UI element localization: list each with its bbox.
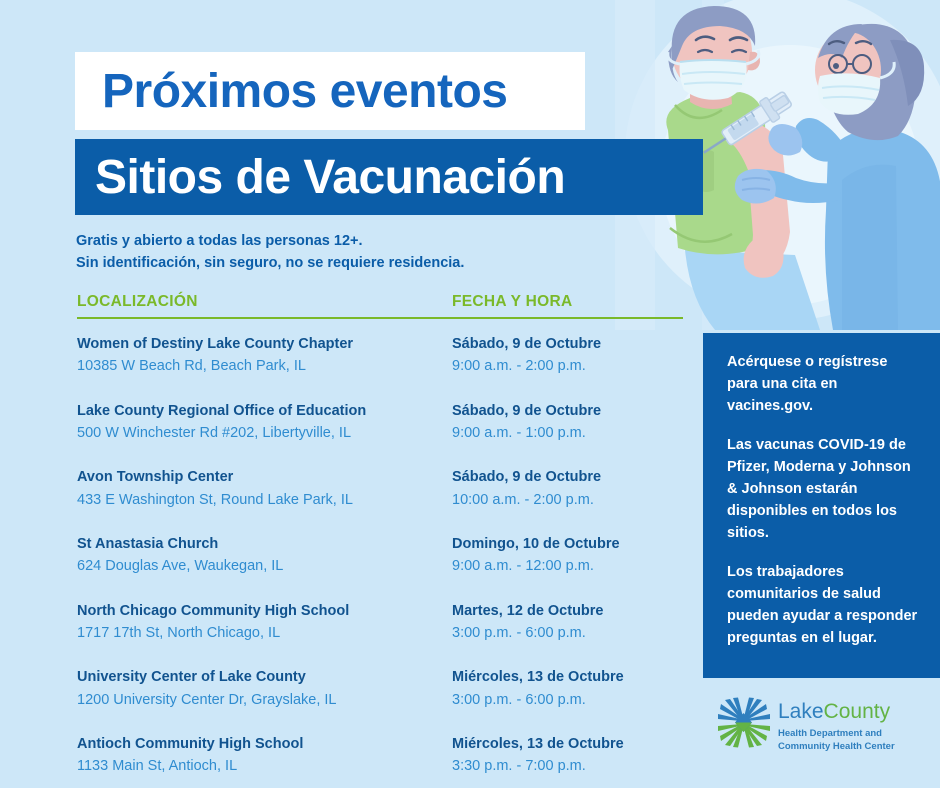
site-date: Domingo, 10 de Octubre — [452, 533, 684, 555]
site-time: 9:00 a.m. - 12:00 p.m. — [452, 555, 684, 578]
header-divider — [77, 317, 683, 319]
headline-secondary-box: Sitios de Vacunación — [75, 139, 703, 215]
cell-location: Women of Destiny Lake County Chapter1038… — [77, 333, 452, 379]
site-time: 9:00 a.m. - 1:00 p.m. — [452, 422, 684, 445]
table-row: Avon Township Center433 E Washington St,… — [77, 466, 684, 512]
site-address: 1133 Main St, Antioch, IL — [77, 755, 452, 778]
site-time: 3:00 p.m. - 6:00 p.m. — [452, 622, 684, 645]
table-row: Women of Destiny Lake County Chapter1038… — [77, 333, 684, 379]
site-time: 3:30 p.m. - 7:00 p.m. — [452, 755, 684, 778]
lake-county-logo: LakeCounty Health Department and Communi… — [718, 697, 933, 759]
headline-primary-box: Próximos eventos — [75, 52, 585, 130]
info-paragraph: Los trabajadores comunitarios de salud p… — [727, 561, 920, 649]
cell-datetime: Miércoles, 13 de Octubre3:30 p.m. - 7:00… — [452, 733, 684, 779]
table-row: St Anastasia Church624 Douglas Ave, Wauk… — [77, 533, 684, 579]
eligibility-subtitle: Gratis y abierto a todas las personas 12… — [76, 230, 676, 275]
site-time: 9:00 a.m. - 2:00 p.m. — [452, 355, 684, 378]
cell-location: Lake County Regional Office of Education… — [77, 400, 452, 446]
poster-canvas: Próximos eventos Sitios de Vacunación Gr… — [0, 0, 940, 788]
site-date: Martes, 12 de Octubre — [452, 600, 684, 622]
site-address: 433 E Washington St, Round Lake Park, IL — [77, 489, 452, 512]
table-row: Antioch Community High School1133 Main S… — [77, 733, 684, 779]
logo-name-county: County — [824, 700, 891, 723]
site-name: Antioch Community High School — [77, 733, 452, 755]
cell-datetime: Sábado, 9 de Octubre9:00 a.m. - 1:00 p.m… — [452, 400, 684, 446]
cell-location: St Anastasia Church624 Douglas Ave, Wauk… — [77, 533, 452, 579]
site-date: Sábado, 9 de Octubre — [452, 400, 684, 422]
site-name: North Chicago Community High School — [77, 600, 452, 622]
info-panel: Acérquese o regístrese para una cita en … — [703, 333, 940, 678]
info-paragraph: Acérquese o regístrese para una cita en … — [727, 351, 920, 417]
site-date: Miércoles, 13 de Octubre — [452, 666, 684, 688]
site-time: 3:00 p.m. - 6:00 p.m. — [452, 689, 684, 712]
cell-location: North Chicago Community High School1717 … — [77, 600, 452, 646]
table-row: University Center of Lake County1200 Uni… — [77, 666, 684, 712]
cell-datetime: Martes, 12 de Octubre3:00 p.m. - 6:00 p.… — [452, 600, 684, 646]
site-address: 10385 W Beach Rd, Beach Park, IL — [77, 355, 452, 378]
cell-datetime: Domingo, 10 de Octubre9:00 a.m. - 12:00 … — [452, 533, 684, 579]
site-date: Miércoles, 13 de Octubre — [452, 733, 684, 755]
logo-name-lake: Lake — [778, 700, 824, 723]
subtitle-line-1: Gratis y abierto a todas las personas 12… — [76, 230, 676, 252]
cell-datetime: Sábado, 9 de Octubre10:00 a.m. - 2:00 p.… — [452, 466, 684, 512]
site-address: 500 W Winchester Rd #202, Libertyville, … — [77, 422, 452, 445]
cell-location: Avon Township Center433 E Washington St,… — [77, 466, 452, 512]
cell-datetime: Sábado, 9 de Octubre9:00 a.m. - 2:00 p.m… — [452, 333, 684, 379]
site-name: University Center of Lake County — [77, 666, 452, 688]
site-time: 10:00 a.m. - 2:00 p.m. — [452, 489, 684, 512]
table-body: Women of Destiny Lake County Chapter1038… — [77, 333, 684, 779]
logo-tagline: Health Department and Community Health C… — [778, 728, 895, 754]
site-date: Sábado, 9 de Octubre — [452, 466, 684, 488]
logo-name: LakeCounty — [778, 701, 895, 722]
site-address: 624 Douglas Ave, Waukegan, IL — [77, 555, 452, 578]
column-header-location: LOCALIZACIÓN — [77, 293, 452, 311]
column-header-datetime: FECHA Y HORA — [452, 293, 684, 311]
cell-location: Antioch Community High School1133 Main S… — [77, 733, 452, 779]
site-address: 1200 University Center Dr, Grayslake, IL — [77, 689, 452, 712]
site-name: St Anastasia Church — [77, 533, 452, 555]
site-name: Lake County Regional Office of Education — [77, 400, 452, 422]
site-address: 1717 17th St, North Chicago, IL — [77, 622, 452, 645]
table-row: North Chicago Community High School1717 … — [77, 600, 684, 646]
site-date: Sábado, 9 de Octubre — [452, 333, 684, 355]
headline-secondary-text: Sitios de Vacunación — [75, 150, 565, 205]
starburst-icon — [718, 697, 770, 749]
site-name: Women of Destiny Lake County Chapter — [77, 333, 452, 355]
logo-tagline-line-2: Community Health Center — [778, 741, 895, 754]
logo-wordmark: LakeCounty Health Department and Communi… — [778, 697, 895, 754]
schedule-table: LOCALIZACIÓN FECHA Y HORA Women of Desti… — [77, 293, 684, 788]
table-header-row: LOCALIZACIÓN FECHA Y HORA — [77, 293, 684, 311]
subtitle-line-2: Sin identificación, sin seguro, no se re… — [76, 252, 676, 274]
cell-location: University Center of Lake County1200 Uni… — [77, 666, 452, 712]
table-row: Lake County Regional Office of Education… — [77, 400, 684, 446]
headline-primary-text: Próximos eventos — [75, 64, 507, 119]
site-name: Avon Township Center — [77, 466, 452, 488]
logo-tagline-line-1: Health Department and — [778, 728, 895, 741]
cell-datetime: Miércoles, 13 de Octubre3:00 p.m. - 6:00… — [452, 666, 684, 712]
info-paragraph: Las vacunas COVID-19 de Pfizer, Moderna … — [727, 434, 920, 544]
